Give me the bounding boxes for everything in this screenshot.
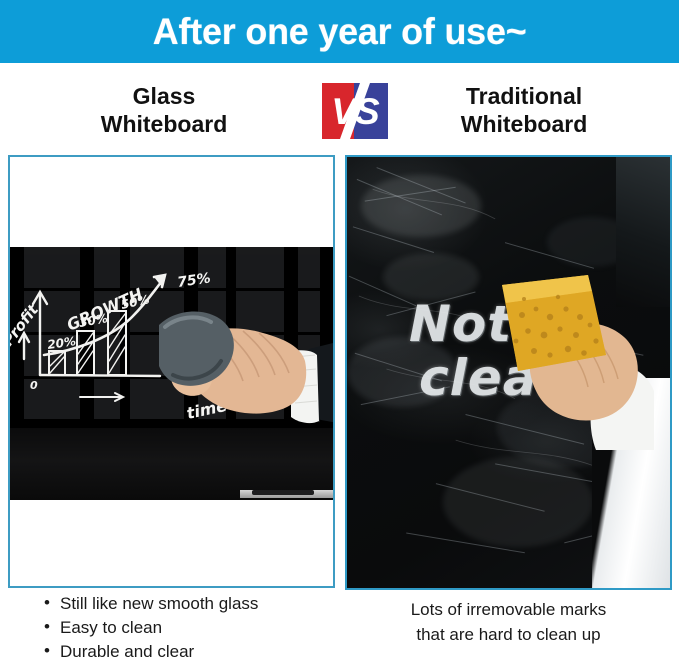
benefits-list: Still like new smooth glass Easy to clea… xyxy=(44,592,335,664)
caption-traditional-whiteboard: Lots of irremovable marks that are hard … xyxy=(345,598,672,647)
caption-glass-whiteboard: Still like new smooth glass Easy to clea… xyxy=(8,592,335,664)
glass-board-clean-area xyxy=(10,157,333,247)
heading-glass-line2: Whiteboard xyxy=(30,110,298,138)
caption-right-line1: Lots of irremovable marks xyxy=(411,600,607,619)
panel-glass-whiteboard: Profit GROWTH 20% 30% 50% 75% time 0 xyxy=(8,155,335,588)
chart-label-origin: 0 xyxy=(30,379,38,392)
traditional-whiteboard-photo: Not clean xyxy=(347,157,670,588)
panel-traditional-whiteboard: Not clean xyxy=(345,155,672,590)
vs-badge-label: VS xyxy=(322,83,388,139)
list-item: Easy to clean xyxy=(44,616,335,640)
chart-label-profit: Profit xyxy=(8,300,43,349)
heading-traditional-whiteboard: Traditional Whiteboard xyxy=(390,82,658,138)
list-item: Durable and clear xyxy=(44,640,335,664)
header-banner: After one year of use~ xyxy=(0,0,679,63)
list-item: Still like new smooth glass xyxy=(44,592,335,616)
chart-label-75: 75% xyxy=(176,270,211,291)
hand-with-sponge xyxy=(478,275,658,450)
comparison-infographic: After one year of use~ Glass Whiteboard … xyxy=(0,0,679,669)
heading-glass-whiteboard: Glass Whiteboard xyxy=(30,82,298,138)
page-title: After one year of use~ xyxy=(153,13,527,50)
heading-traditional-line2: Whiteboard xyxy=(390,110,658,138)
vs-badge-icon: VS xyxy=(322,83,388,139)
hand-with-eraser xyxy=(159,305,335,455)
caption-right-line2: that are hard to clean up xyxy=(345,623,672,648)
glass-whiteboard-photo: Profit GROWTH 20% 30% 50% 75% time 0 xyxy=(8,247,335,500)
heading-glass-line1: Glass xyxy=(133,83,196,109)
heading-traditional-line1: Traditional xyxy=(466,83,582,109)
